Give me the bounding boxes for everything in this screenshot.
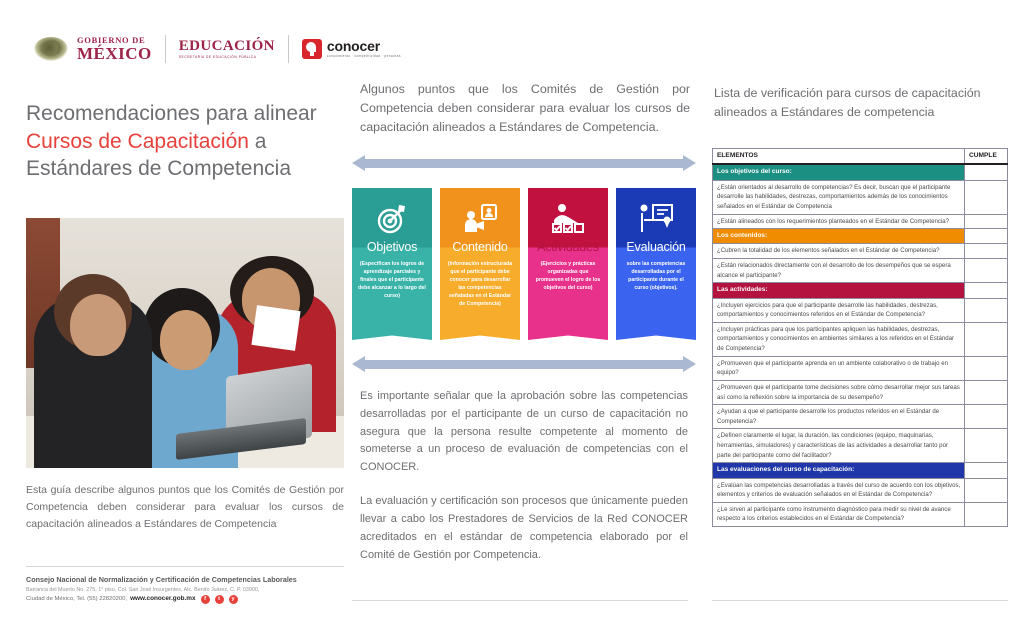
educacion-sublabel: SECRETARÍA DE EDUCACIÓN PÚBLICA	[179, 56, 275, 59]
table-row: ¿Incluyen ejercicios para que el partici…	[713, 298, 1008, 322]
section-header-row: Las evaluaciones del curso de capacitaci…	[713, 463, 1008, 478]
table-row: ¿Incluyen prácticas para que los partici…	[713, 322, 1008, 356]
left-lead-text: Esta guía describe algunos puntos que lo…	[26, 482, 344, 533]
cumple-checkbox-cell[interactable]	[965, 478, 1008, 502]
table-row: ¿Están relacionados directamente con el …	[713, 259, 1008, 283]
educacion-label: EDUCACIÓN	[179, 39, 275, 54]
cumple-checkbox-cell[interactable]	[965, 405, 1008, 429]
ribbon-objetivos[interactable]: Objetivos (Especifican los logros de apr…	[352, 188, 432, 340]
checklist-item: ¿Incluyen prácticas para que los partici…	[713, 322, 965, 356]
conocer-sublabel: conocimiento · competitividad · personas	[327, 55, 401, 58]
checklist-item: ¿Le sirven al participante como instrume…	[713, 502, 965, 526]
middle-body-text: Es importante señalar que la aprobación …	[360, 388, 688, 580]
cumple-checkbox-cell[interactable]	[965, 214, 1008, 229]
certificate-icon	[616, 188, 696, 242]
footer-divider	[26, 566, 344, 567]
section-heading: Los contenidos:	[713, 229, 965, 244]
ribbon-actividades[interactable]: Actividades (Ejercicios y prácticas orga…	[528, 188, 608, 340]
infographic-page: GOBIERNO DE MÉXICO EDUCACIÓN SECRETARÍA …	[0, 0, 1024, 629]
ribbon-description: (Información estructurada que el partici…	[440, 254, 520, 308]
cumple-checkbox-cell[interactable]	[965, 380, 1008, 404]
table-row: ¿Ayudan a que el participante desarrolle…	[713, 405, 1008, 429]
section-heading: Las actividades:	[713, 283, 965, 298]
logo-divider-2	[288, 35, 289, 63]
col-elements: ELEMENTOS	[713, 149, 965, 165]
arrow-bottom	[352, 356, 696, 373]
gobierno-line2: MÉXICO	[77, 45, 152, 62]
ribbon-evaluacion[interactable]: Evaluación sobre las competencias desarr…	[616, 188, 696, 340]
section-heading: Las evaluaciones del curso de capacitaci…	[713, 463, 965, 478]
ribbon-contenido[interactable]: Contenido (Información estructurada que …	[440, 188, 520, 340]
gobierno-line1: GOBIERNO DE	[77, 36, 152, 45]
ribbon-description: (Ejercicios y prácticas organizadas que …	[528, 254, 608, 292]
ribbon-label: Actividades	[528, 240, 608, 254]
checklist-item: ¿Definen claramente el lugar, la duració…	[713, 429, 965, 463]
ribbon-description: sobre las competencias desarrolladas por…	[616, 254, 696, 292]
cumple-checkbox-cell[interactable]	[965, 244, 1008, 259]
cumple-checkbox-cell[interactable]	[965, 259, 1008, 283]
table-header-row: ELEMENTOSCUMPLE	[713, 149, 1008, 165]
ribbon-group: Objetivos (Especifican los logros de apr…	[352, 188, 696, 340]
logo-divider-1	[165, 35, 166, 63]
footer-org: Consejo Nacional de Normalización y Cert…	[26, 575, 356, 586]
table-row: ¿Están orientados al desarrollo de compe…	[713, 180, 1008, 214]
middle-paragraph-2: La evaluación y certificación son proces…	[360, 493, 688, 564]
checklist-item: ¿Ayudan a que el participante desarrolle…	[713, 405, 965, 429]
presentation-icon	[440, 188, 520, 242]
section-cumple-cell[interactable]	[965, 164, 1008, 180]
middle-paragraph-1: Es importante señalar que la aprobación …	[360, 388, 688, 477]
checklist-item: ¿Están relacionados directamente con el …	[713, 259, 965, 283]
section-heading: Los objetivos del curso:	[713, 164, 965, 180]
educacion-logo: EDUCACIÓN SECRETARÍA DE EDUCACIÓN PÚBLIC…	[179, 39, 275, 59]
section-cumple-cell[interactable]	[965, 463, 1008, 478]
checklist-item: ¿Están alineados con los requerimientos …	[713, 214, 965, 229]
checklist-item: ¿Promueven que el participante aprenda e…	[713, 356, 965, 380]
cumple-checkbox-cell[interactable]	[965, 298, 1008, 322]
table-row: ¿Le sirven al participante como instrume…	[713, 502, 1008, 526]
footer-block: Consejo Nacional de Normalización y Cert…	[26, 575, 356, 604]
gobierno-de-mexico-logo: GOBIERNO DE MÉXICO	[77, 36, 152, 63]
header-logo-bar: GOBIERNO DE MÉXICO EDUCACIÓN SECRETARÍA …	[34, 28, 401, 70]
section-header-row: Los objetivos del curso:	[713, 164, 1008, 180]
right-bottom-divider	[712, 600, 1008, 601]
mexican-eagle-icon	[34, 37, 68, 61]
checklist-laptop-icon	[528, 188, 608, 242]
col-cumple: CUMPLE	[965, 149, 1008, 165]
title-highlight: Cursos de Capacitación	[26, 130, 249, 153]
checklist-item: ¿Incluyen ejercicios para que el partici…	[713, 298, 965, 322]
checklist-table: ELEMENTOSCUMPLELos objetivos del curso:¿…	[712, 148, 1008, 527]
footer-website[interactable]: www.conocer.gob.mx	[130, 594, 195, 604]
cumple-checkbox-cell[interactable]	[965, 180, 1008, 214]
checklist-item: ¿Evalúan las competencias desarrolladas …	[713, 478, 965, 502]
section-cumple-cell[interactable]	[965, 229, 1008, 244]
checklist-item: ¿Cubren la totalidad de los elementos se…	[713, 244, 965, 259]
title-part-1: Recomendaciones para alinear	[26, 102, 317, 125]
conocer-logo: conocer conocimiento · competitividad · …	[302, 39, 401, 59]
checklist-item: ¿Están orientados al desarrollo de compe…	[713, 180, 965, 214]
table-row: ¿Promueven que el participante tome deci…	[713, 380, 1008, 404]
facebook-icon[interactable]: f	[201, 595, 210, 604]
ribbon-description: (Especifican los logros de aprendizaje p…	[352, 254, 432, 300]
ribbon-label: Objetivos	[352, 240, 432, 254]
cumple-checkbox-cell[interactable]	[965, 429, 1008, 463]
training-photo	[26, 218, 344, 468]
checklist-title: Lista de verificación para cursos de cap…	[714, 84, 1006, 121]
checklist-item: ¿Promueven que el participante tome deci…	[713, 380, 965, 404]
conocer-mark-icon	[302, 39, 322, 59]
ribbon-label: Evaluación	[616, 240, 696, 254]
conocer-label: conocer	[327, 39, 401, 53]
cumple-checkbox-cell[interactable]	[965, 356, 1008, 380]
twitter-icon[interactable]: t	[215, 595, 224, 604]
ribbon-label: Contenido	[440, 240, 520, 254]
section-header-row: Los contenidos:	[713, 229, 1008, 244]
footer-address: Barranca del Muerto No. 275, 1° piso, Co…	[26, 586, 356, 594]
table-row: ¿Cubren la totalidad de los elementos se…	[713, 244, 1008, 259]
table-row: ¿Están alineados con los requerimientos …	[713, 214, 1008, 229]
middle-lead-text: Algunos puntos que los Comités de Gestió…	[360, 80, 690, 137]
middle-lead-paragraph: Algunos puntos que los Comités de Gestió…	[360, 80, 690, 137]
arrow-top	[352, 155, 696, 172]
youtube-icon[interactable]: y	[229, 595, 238, 604]
table-row: ¿Definen claramente el lugar, la duració…	[713, 429, 1008, 463]
footer-city-tel: Ciudad de México, Tel. (55) 22820200,	[26, 595, 127, 604]
section-cumple-cell[interactable]	[965, 283, 1008, 298]
target-icon	[352, 188, 432, 242]
middle-bottom-divider	[352, 600, 688, 601]
section-header-row: Las actividades:	[713, 283, 1008, 298]
page-title: Recomendaciones para alinear Cursos de C…	[26, 100, 344, 183]
table-row: ¿Evalúan las competencias desarrolladas …	[713, 478, 1008, 502]
cumple-checkbox-cell[interactable]	[965, 502, 1008, 526]
cumple-checkbox-cell[interactable]	[965, 322, 1008, 356]
table-row: ¿Promueven que el participante aprenda e…	[713, 356, 1008, 380]
